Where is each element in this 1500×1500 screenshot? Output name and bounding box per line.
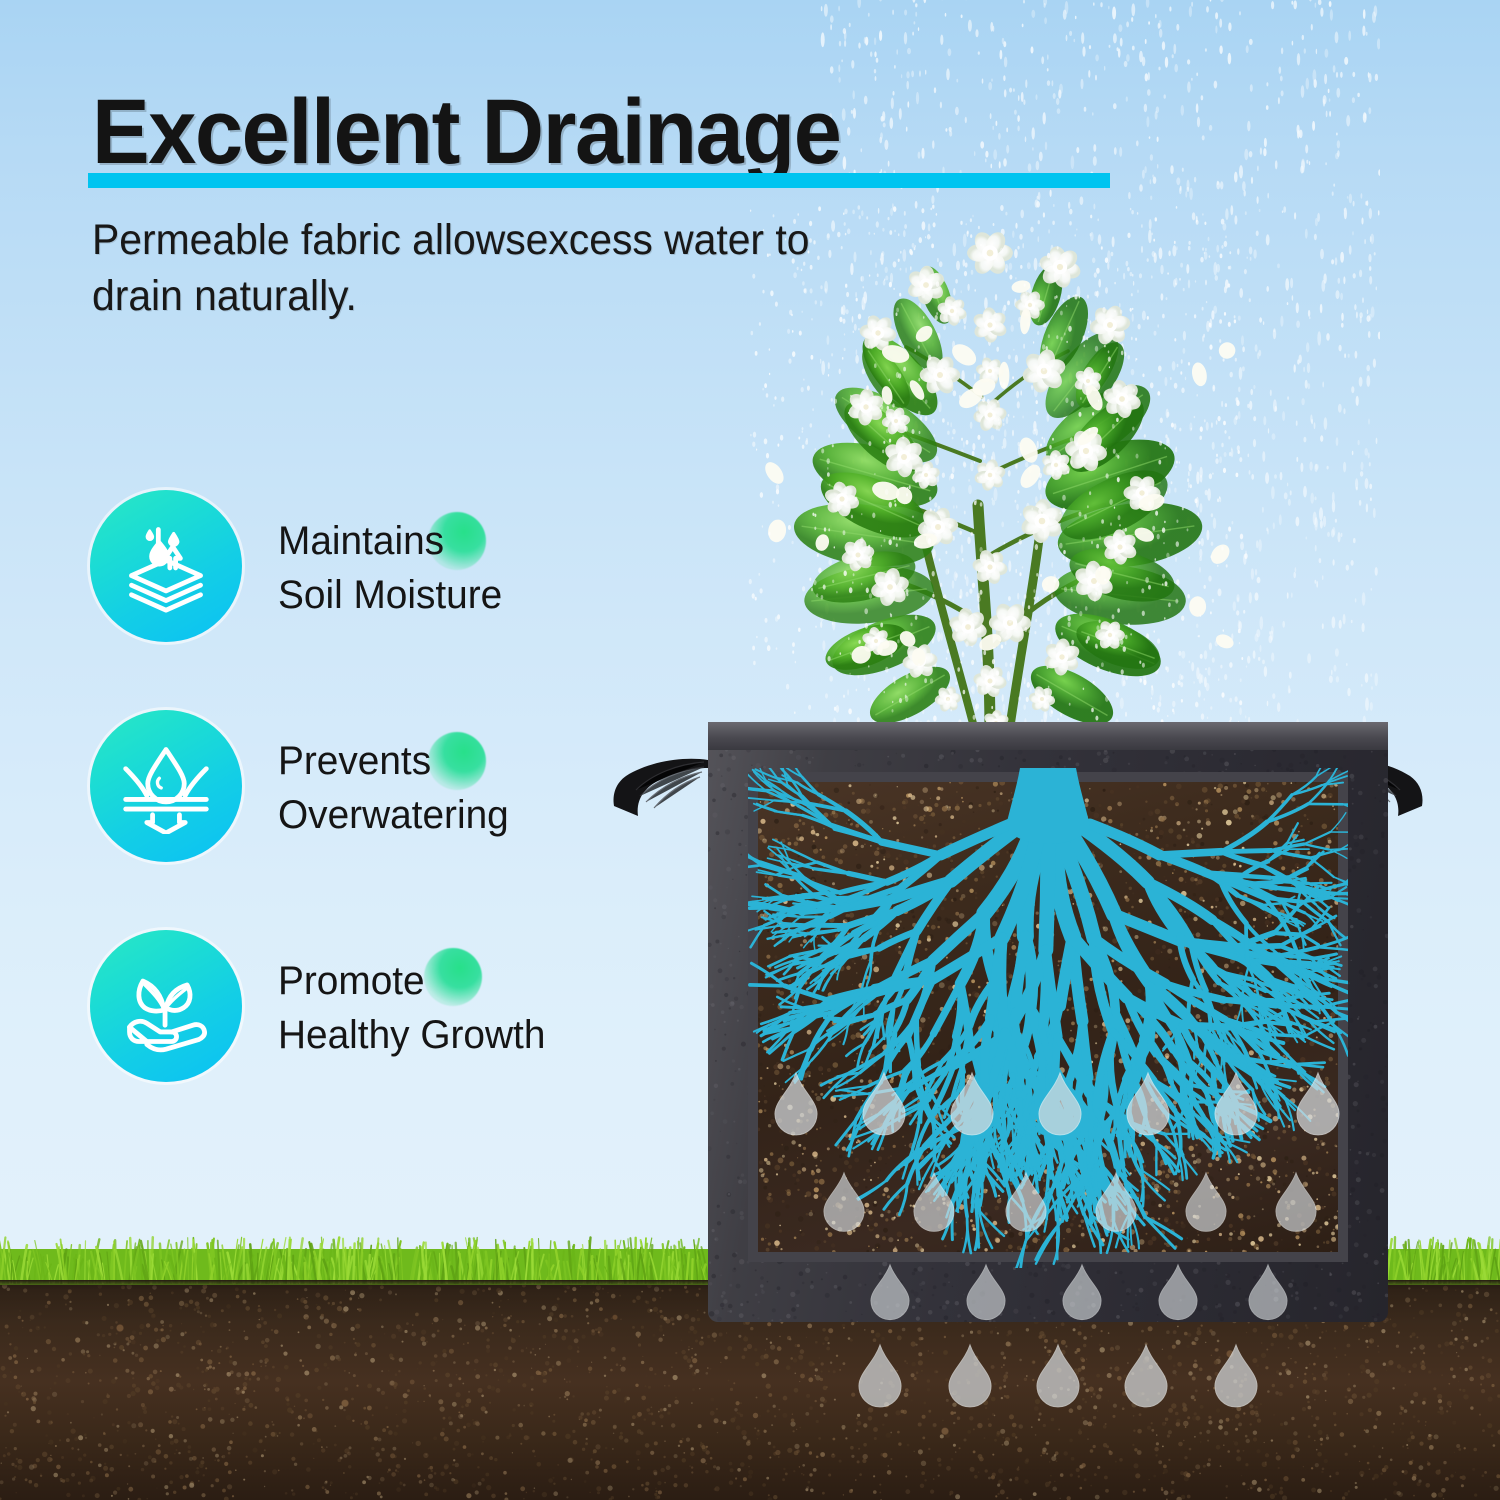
feature-list: Maintains Soil Moisture Prevents [90, 490, 650, 1150]
feature-icon-badge [90, 710, 242, 862]
feature-icon-badge [90, 930, 242, 1082]
feature-label-line2: Healthy Growth [278, 1013, 545, 1057]
water-drops-on-soil-layers-icon [118, 518, 214, 614]
feature-item-prevents-overwatering[interactable]: Prevents Overwatering [90, 710, 650, 930]
grow-bag-top-rim [708, 722, 1388, 750]
feature-item-maintains-soil-moisture[interactable]: Maintains Soil Moisture [90, 490, 650, 710]
feature-item-promote-healthy-growth[interactable]: Promote Healthy Growth [90, 930, 650, 1150]
grow-bag-handle-left [612, 754, 708, 826]
feature-icon-badge [90, 490, 242, 642]
feature-label: Prevents Overwatering [278, 734, 666, 842]
hand-holding-sprout-icon [118, 958, 214, 1054]
feature-label-line1: Maintains [278, 519, 444, 563]
fabric-grow-bag-cutaway [648, 722, 1388, 1322]
feature-label-line2: Overwatering [278, 793, 509, 837]
title-underline-bar [88, 173, 1110, 188]
feature-label-line1: Promote [278, 959, 425, 1003]
page-subtitle: Permeable fabric allowsexcess water to d… [92, 212, 814, 324]
draining-water-droplets-in-bag [748, 1052, 1348, 1332]
water-drop-through-membrane-icon [118, 738, 214, 834]
feature-label-line1: Prevents [278, 739, 431, 783]
feature-label: Maintains Soil Moisture [278, 514, 666, 622]
infographic-canvas: Excellent Drainage Permeable fabric allo… [0, 0, 1500, 1500]
page-title: Excellent Drainage [92, 80, 840, 185]
feature-label-line2: Soil Moisture [278, 573, 502, 617]
feature-label: Promote Healthy Growth [278, 954, 666, 1062]
draining-water-droplets-ground [840, 1320, 1260, 1440]
